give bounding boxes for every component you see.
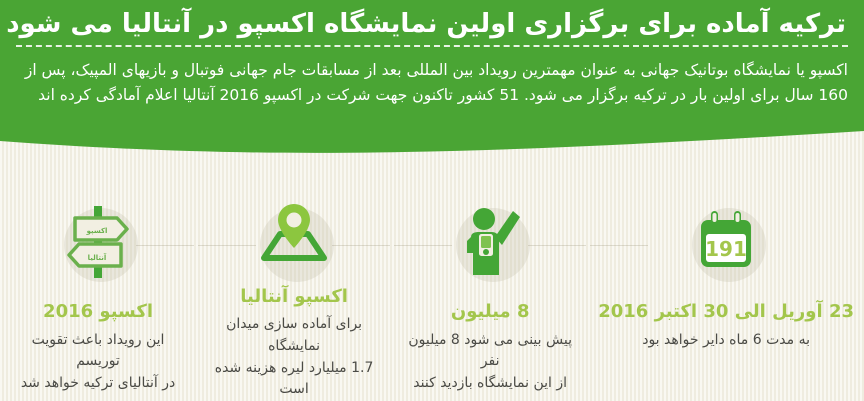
stat-description: پیش بینی می شود 8 میلیون نفر از این نمای… (402, 330, 578, 395)
stat-description: برای آماده سازی میدان نمایشگاه 1.7 میلیا… (206, 314, 382, 401)
signpost-icon: اکسپو آنتالیا (59, 204, 137, 280)
signpost-icon-wrap: اکسپو آنتالیا (50, 196, 146, 288)
stat-heading: اکسپو 2016 (43, 301, 153, 323)
stat-description-line-1: این رویداد باعث تقویت توریسم (10, 330, 186, 373)
stat-item-signpost: اکسپو آنتالیا اکسپو 2016 این رویداد باعث… (0, 190, 196, 401)
calendar-icon-wrap: 191 (678, 196, 774, 288)
signpost-top-label: اکسپو (86, 227, 108, 235)
intro-paragraph: اکسپو یا نمایشگاه بوتانیک جهانی به عنوان… (16, 58, 848, 108)
infographic-root: ترکیه آماده برای برگزاری اولین نمایشگاه … (0, 0, 864, 401)
stat-description: این رویداد باعث تقویت توریسم در آنتالیای… (10, 330, 186, 395)
visitor-icon-wrap (442, 196, 538, 288)
stat-description-line-2: 1.7 میلیارد لیره هزینه شده است (206, 358, 382, 401)
title-divider (16, 45, 848, 47)
header-content: ترکیه آماده برای برگزاری اولین نمایشگاه … (0, 0, 864, 150)
stat-item-calendar: 191 23 آوریل الی 30 اکتبر 2016 به مدت 6 … (588, 190, 864, 401)
stat-heading: 8 میلیون (451, 301, 530, 323)
stat-item-venue: اکسپو آنتالیا برای آماده سازی میدان نمای… (196, 190, 392, 401)
stat-description-line-1: پیش بینی می شود 8 میلیون نفر (402, 330, 578, 373)
signpost-bottom-label: آنتالیا (88, 253, 107, 262)
stat-heading: اکسپو آنتالیا (240, 286, 348, 308)
intro-line-2: 160 سال برای اولین بار در ترکیه برگزار م… (16, 83, 848, 108)
map-pin-icon-wrap (246, 196, 342, 273)
stat-description: به مدت 6 ماه دایر خواهد بود (642, 330, 810, 352)
stat-description-line-2: از این نمایشگاه بازدید کنند (402, 373, 578, 395)
stat-description-line-1: به مدت 6 ماه دایر خواهد بود (642, 330, 810, 352)
calendar-icon: 191 (694, 209, 758, 275)
stat-description-line-1: برای آماده سازی میدان نمایشگاه (206, 314, 382, 357)
page-title: ترکیه آماده برای برگزاری اولین نمایشگاه … (16, 8, 848, 41)
visitor-icon (457, 207, 523, 277)
map-pin-icon (258, 202, 330, 266)
calendar-number: 191 (705, 237, 747, 261)
stat-heading: 23 آوریل الی 30 اکتبر 2016 (598, 301, 854, 323)
stat-description-line-2: در آنتالیای ترکیه خواهد شد (10, 373, 186, 395)
stats-row: 191 23 آوریل الی 30 اکتبر 2016 به مدت 6 … (0, 190, 864, 401)
intro-line-1: اکسپو یا نمایشگاه بوتانیک جهانی به عنوان… (16, 58, 848, 83)
stat-item-visitors: 8 میلیون پیش بینی می شود 8 میلیون نفر از… (392, 190, 588, 401)
